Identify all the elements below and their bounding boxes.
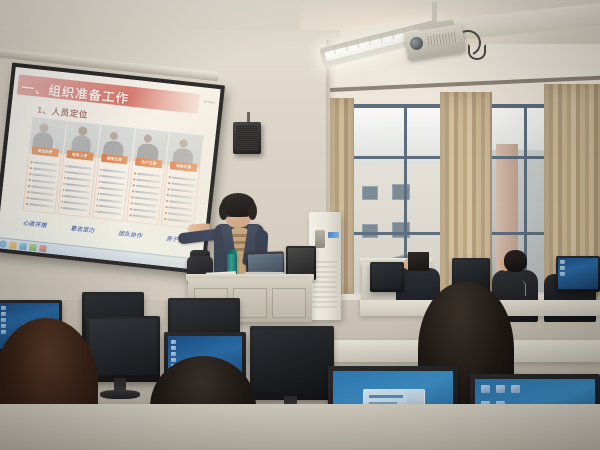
column-header-label: 采购主管: [176, 163, 192, 170]
monitor-screen: [372, 264, 402, 289]
column-items: [26, 157, 58, 212]
podium-monitor-screen: [288, 248, 314, 274]
column-header: 营销主管: [101, 154, 129, 165]
laptop-screen: [247, 253, 283, 272]
slogan: 意志坚力: [70, 224, 95, 235]
column-items: [129, 168, 161, 223]
column-items: [60, 161, 92, 216]
column-header: 岗位职责: [31, 146, 59, 157]
projector-lens: [409, 36, 424, 51]
slide-column: 采购主管: [161, 164, 200, 229]
column-items: [164, 172, 196, 227]
ac-badge: [328, 232, 339, 238]
folder-icon[interactable]: [9, 241, 17, 249]
office-icon[interactable]: [39, 244, 47, 252]
column-header: 生产主管: [135, 157, 163, 168]
ac-vent: [313, 260, 337, 308]
ac-control-panel[interactable]: [315, 230, 325, 248]
monitor: [250, 326, 334, 400]
student-desk-front: [0, 404, 600, 450]
slogan: 心态开放: [23, 219, 48, 230]
student-hair: [504, 250, 527, 272]
column-header-label: 岗位职责: [37, 148, 53, 155]
column-header: 财务人员: [66, 150, 94, 161]
hoodie-drawstring: [512, 280, 526, 296]
classroom-photo: 一、组织准备工作 1、人员定位: [0, 0, 600, 450]
presenter-hair-side: [219, 202, 228, 220]
presenter-hair-side: [248, 202, 257, 220]
laptop[interactable]: [246, 251, 285, 273]
column-header-label: 营销主管: [107, 156, 123, 163]
projector-cable-loop: [468, 44, 486, 60]
monitor-screen: [254, 330, 330, 392]
slide-column: 岗位职责: [22, 149, 61, 214]
slide-column: 财务人员: [57, 153, 96, 218]
student-hair: [408, 252, 429, 271]
column-header-label: 生产主管: [141, 160, 157, 167]
monitor-screen: [558, 258, 598, 289]
slide-role-table: 岗位职责 财务人员: [22, 149, 200, 229]
media-icon[interactable]: [29, 243, 37, 251]
wall-speaker-icon: [233, 122, 261, 154]
start-orb-icon[interactable]: [0, 240, 7, 248]
monitor-screen: [89, 319, 157, 375]
column-header: 采购主管: [170, 161, 198, 172]
monitor: [556, 256, 600, 292]
slide-column: 营销主管: [92, 156, 131, 221]
browser-icon[interactable]: [19, 242, 27, 250]
monitor: [370, 262, 404, 292]
column-header-label: 财务人员: [72, 152, 88, 159]
slide-column: 生产主管: [126, 160, 165, 225]
slogan: 团队协作: [118, 229, 143, 240]
monitor-base: [100, 390, 140, 399]
speaker-grill: [236, 125, 258, 151]
column-items: [95, 165, 127, 220]
